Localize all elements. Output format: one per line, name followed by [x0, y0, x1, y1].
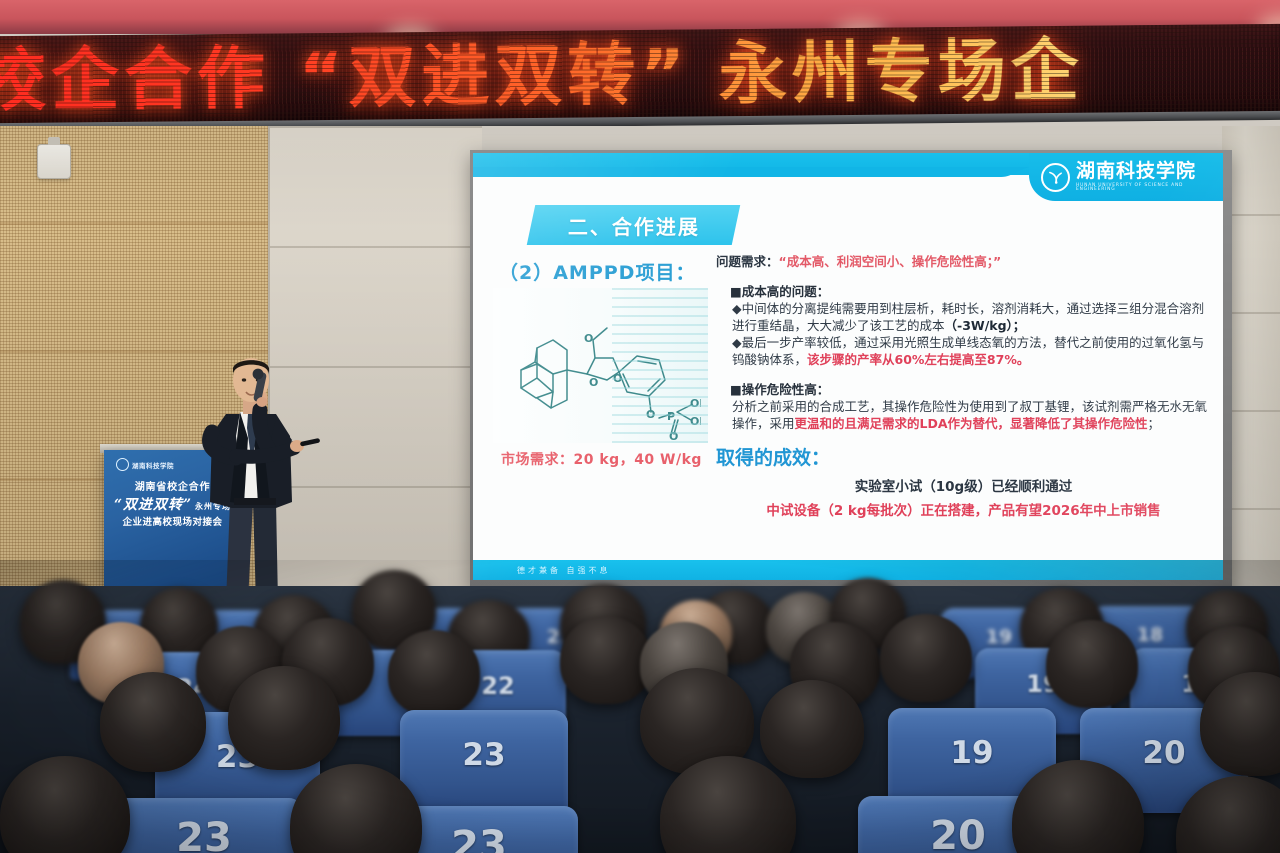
audience-head: [560, 616, 652, 704]
seat: 23: [105, 798, 303, 853]
svg-text:O: O: [613, 372, 622, 385]
result-heading: 取得的成效：: [716, 443, 1211, 470]
svg-text:P: P: [667, 410, 675, 423]
podium-emblem-icon: [116, 458, 129, 471]
conference-hall-photo: 校企合作 “双进双转” 永州专场企: [0, 0, 1280, 853]
svg-text:O: O: [589, 376, 598, 389]
risk-bullet-1-highlight: 更温和的且满足需求的LDA作为替代，显著降低了其操作危险性: [795, 416, 1148, 431]
audience-head: [1046, 620, 1138, 708]
cost-heading: ■成本高的问题：: [716, 281, 1211, 300]
cost-bullet-1: ◆中间体的分离提纯需要用到柱层析，耗时长，溶剂消耗大，通过选择三组分混合溶剂进行…: [716, 300, 1211, 334]
svg-text:O: O: [669, 430, 678, 442]
presentation-slide: 湖南科技学院 HUNAN UNIVERSITY OF SCIENCE AND E…: [473, 153, 1223, 580]
led-banner-text: 校企合作 “双进双转” 永州专场企: [0, 28, 1280, 125]
result-line-1: 实验室小试（10g级）已经顺利通过: [716, 475, 1211, 495]
seat-number: 23: [105, 815, 303, 853]
podium-line-2-main: “双进双转”: [114, 497, 192, 513]
podium-logo-text: 湖南科技学院: [132, 460, 174, 470]
svg-text:ONa: ONa: [690, 415, 701, 428]
risk-heading: ■操作危险性高：: [716, 379, 1211, 398]
project-title: （2）AMPPD项目：: [499, 258, 695, 285]
audience-head: [880, 614, 972, 702]
audience-area: 25 24 23 22 19 18: [0, 560, 1280, 853]
university-name-cn: 湖南科技学院: [1076, 162, 1223, 181]
podium-logo: 湖南科技学院: [116, 458, 174, 471]
cost-bullet-2-highlight: 该步骤的产率从60%左右提高至87%。: [807, 352, 1029, 367]
university-emblem-icon: [1041, 163, 1070, 192]
svg-text:O: O: [646, 408, 655, 421]
slide-section-banner-label: 二、合作进展: [568, 211, 700, 240]
svg-text:O: O: [584, 332, 593, 345]
amppd-structure-diagram: O O O O P ONa ONa O: [501, 292, 701, 442]
market-demand-text: 市场需求：20 kg，40 W/kg: [501, 449, 702, 469]
slide-body-column: 问题需求：“成本高、利润空间小、操作危险性高；” ■成本高的问题： ◆中间体的分…: [716, 253, 1211, 519]
question-line: 问题需求：“成本高、利润空间小、操作危险性高；”: [716, 253, 1211, 270]
audience-head: [760, 680, 864, 778]
cost-bullet-1-value: （-3W/kg）；: [945, 318, 1026, 333]
result-line-2: 中试设备（2 kg每批次）正在搭建，产品有望2026年中上市销售: [716, 499, 1211, 519]
chemical-structure-box: O O O O P ONa ONa O: [493, 288, 708, 443]
projection-screen-frame: 湖南科技学院 HUNAN UNIVERSITY OF SCIENCE AND E…: [470, 150, 1232, 589]
svg-text:ONa: ONa: [690, 397, 701, 410]
risk-bullet-1-tail: ；: [1148, 416, 1161, 431]
question-quote: “成本高、利润空间小、操作危险性高；”: [779, 254, 1002, 269]
slide-section-banner: 二、合作进展: [527, 205, 741, 245]
university-name-en: HUNAN UNIVERSITY OF SCIENCE AND ENGINEER…: [1076, 184, 1223, 193]
audience-head: [228, 666, 340, 770]
audience-head: [100, 672, 206, 772]
risk-bullet-1: 分析之前采用的合成工艺，其操作危险性为使用到了叔丁基锂，该试剂需严格无水无氧操作…: [716, 398, 1211, 432]
university-name-group: 湖南科技学院 HUNAN UNIVERSITY OF SCIENCE AND E…: [1076, 162, 1223, 193]
cost-bullet-2: ◆最后一步产率较低，通过采用光照生成单线态氧的方法，替代之前使用的过氧化氢与钨酸…: [716, 334, 1211, 368]
seat-number: 19: [888, 735, 1056, 771]
university-logo-block: 湖南科技学院 HUNAN UNIVERSITY OF SCIENCE AND E…: [1029, 153, 1223, 201]
question-label: 问题需求：: [716, 254, 779, 269]
audience-head: [388, 630, 480, 716]
